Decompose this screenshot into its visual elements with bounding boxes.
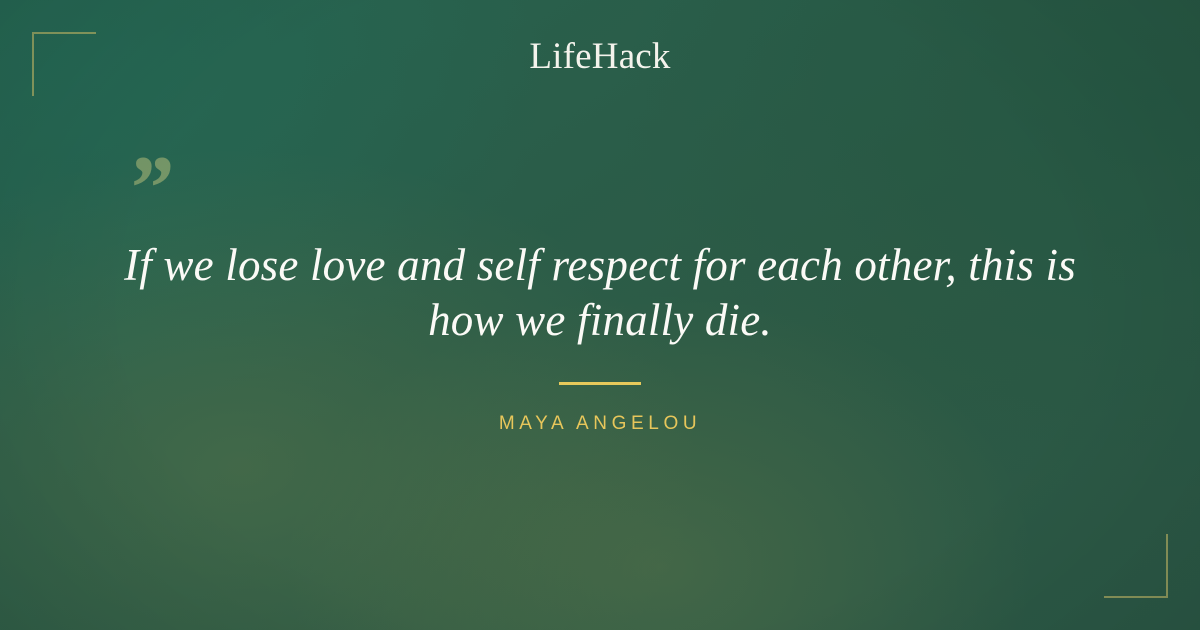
brand-logo[interactable]: LifeHack [0,38,1200,75]
quote-author: MAYA ANGELOU [0,413,1200,435]
corner-bracket-bottom-right-icon [1104,534,1168,598]
quotation-mark-icon: ” [126,142,172,234]
quote-card: LifeHack ” If we lose love and self resp… [0,0,1200,630]
quote-text: If we lose love and self respect for eac… [96,238,1104,348]
gold-divider [559,382,641,385]
